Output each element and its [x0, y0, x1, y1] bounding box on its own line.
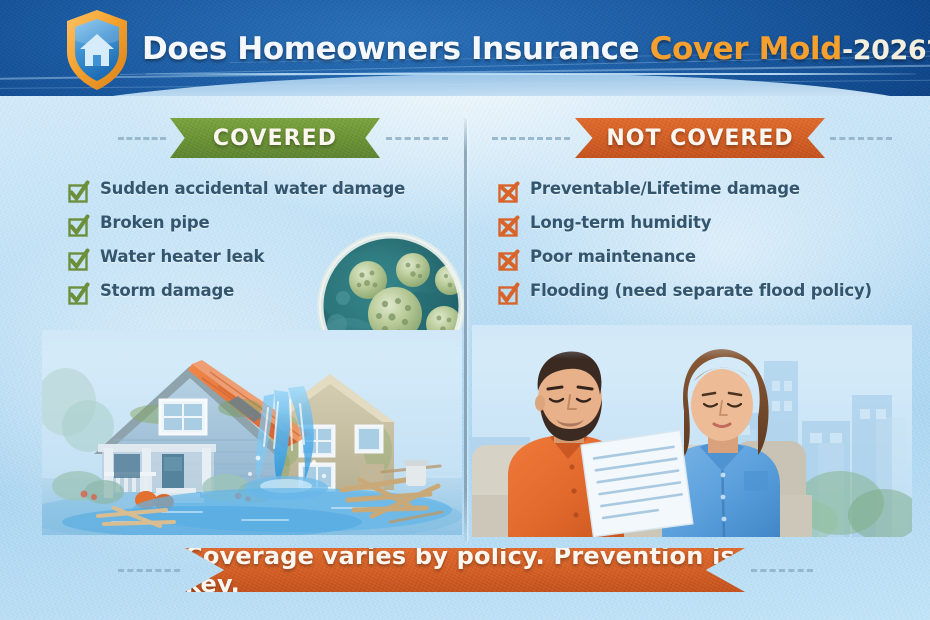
- not-covered-banner-label: NOT COVERED: [606, 126, 793, 151]
- column-divider: [464, 118, 467, 542]
- title-highlight: Cover Mold: [650, 31, 842, 67]
- not-covered-item-label: Preventable/Lifetime damage: [530, 180, 800, 198]
- covered-item-label: Storm damage: [100, 282, 234, 300]
- header-banner: Does Homeowners Insurance Cover Mold-202…: [0, 0, 930, 96]
- covered-item-label: Water heater leak: [100, 248, 264, 266]
- checkbox-check-icon: [68, 182, 89, 203]
- covered-banner: COVERED: [170, 118, 380, 158]
- title-lead: Does Homeowners Insurance: [142, 31, 650, 67]
- not-covered-item-label: Poor maintenance: [530, 248, 696, 266]
- checkbox-cross-icon: [498, 284, 519, 305]
- dashed-connector: [118, 137, 166, 140]
- dashed-connector: [386, 137, 448, 140]
- covered-banner-label: COVERED: [213, 126, 337, 151]
- checkbox-cross-icon: [498, 216, 519, 237]
- checkbox-cross-icon: [498, 250, 519, 271]
- damaged-house-illustration: [42, 330, 462, 535]
- not-covered-item-label: Flooding (need separate flood policy): [530, 282, 872, 300]
- not-covered-list: Preventable/Lifetime damage Long-term hu…: [498, 180, 918, 305]
- list-item: Broken pipe: [68, 214, 448, 237]
- list-item: Poor maintenance: [498, 248, 918, 271]
- list-item: Storm damage: [68, 282, 448, 305]
- page-title: Does Homeowners Insurance Cover Mold-202…: [142, 18, 922, 80]
- dashed-connector: [830, 137, 892, 140]
- footer-banner-label: Coverage varies by policy. Prevention is…: [185, 542, 745, 598]
- footer-banner: Coverage varies by policy. Prevention is…: [185, 548, 745, 592]
- list-item: Long-term humidity: [498, 214, 918, 237]
- not-covered-banner: NOT COVERED: [575, 118, 825, 158]
- checkbox-check-icon: [68, 216, 89, 237]
- list-item: Preventable/Lifetime damage: [498, 180, 918, 203]
- shield-house-icon: [64, 8, 130, 92]
- infographic-canvas: Does Homeowners Insurance Cover Mold-202…: [0, 0, 930, 620]
- dashed-connector: [751, 569, 813, 572]
- checkbox-cross-icon: [498, 182, 519, 203]
- covered-list: Sudden accidental water damage Broken pi…: [68, 180, 448, 305]
- dashed-connector: [492, 137, 570, 140]
- list-item: Water heater leak: [68, 248, 448, 271]
- checkbox-check-icon: [68, 284, 89, 305]
- title-year: -2026?: [842, 35, 930, 66]
- covered-item-label: Sudden accidental water damage: [100, 180, 405, 198]
- covered-item-label: Broken pipe: [100, 214, 210, 232]
- not-covered-item-label: Long-term humidity: [530, 214, 711, 232]
- list-item: Sudden accidental water damage: [68, 180, 448, 203]
- couple-reading-policy-illustration: [472, 325, 912, 537]
- checkbox-check-icon: [68, 250, 89, 271]
- list-item: Flooding (need separate flood policy): [498, 282, 918, 305]
- dashed-connector: [118, 569, 180, 572]
